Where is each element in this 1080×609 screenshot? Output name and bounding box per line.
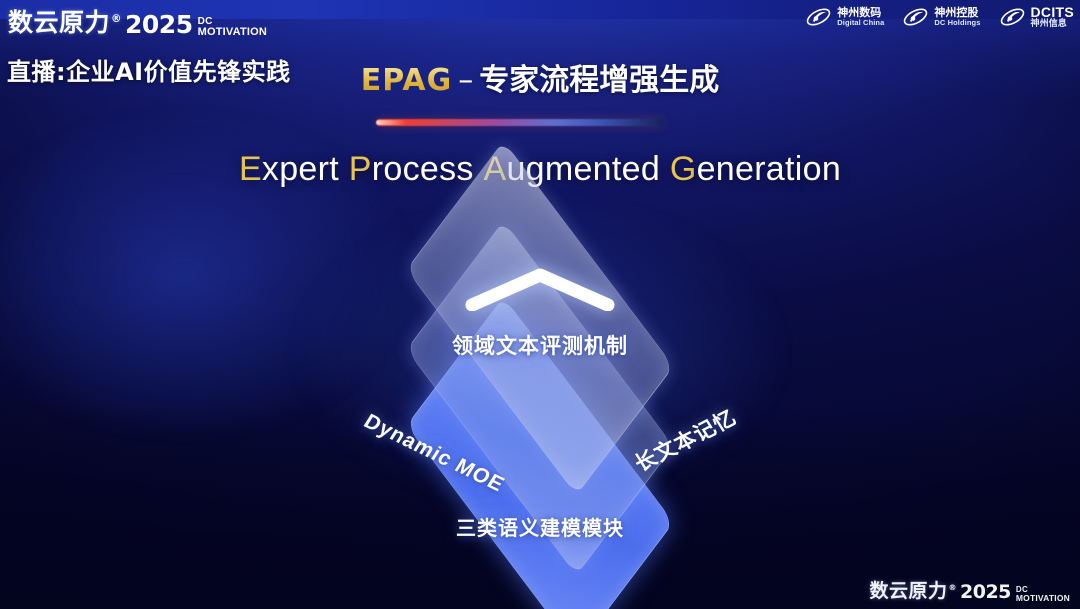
accent-gradient-bar <box>376 119 664 126</box>
slide-canvas: 数云原力® 2025 DC MOTIVATION 直播:企业AI价值先锋实践 神… <box>0 0 1080 609</box>
corp-logo-dcits: DCITS 神州信息 <box>999 5 1075 29</box>
corp-logo-line2: 神州信息 <box>1031 20 1075 29</box>
layer-bottom-label: 三类语义建模模块 <box>0 512 1080 541</box>
corporate-logo-group: 神州数码 Digital China 神州控股 DC Holdings <box>805 5 1074 29</box>
swoosh-icon <box>902 6 929 28</box>
corp-logo-text: 神州数码 Digital China <box>837 7 884 26</box>
corp-logo-line1: DCITS <box>1031 5 1075 20</box>
title-chinese: 专家流程增强生成 <box>479 63 719 98</box>
subtitle-word-generation: eneration <box>697 150 841 188</box>
chevron-up-icon <box>462 265 618 311</box>
swoosh-icon <box>805 6 832 28</box>
registered-mark: ® <box>111 13 122 25</box>
brand-dc-motivation: DC MOTIVATION <box>198 17 267 38</box>
corp-logo-line2: DC Holdings <box>934 19 980 27</box>
brand-dc-motivation: DC MOTIVATION <box>1016 586 1070 603</box>
brand-year: 2025 <box>125 10 193 39</box>
title-dash: – <box>458 63 473 98</box>
brand-logo-top-left: 数云原力® 2025 DC MOTIVATION <box>8 3 267 39</box>
subtitle-word-process: rocess <box>372 150 474 188</box>
brand-motivation-text: MOTIVATION <box>1016 594 1070 603</box>
subtitle-initial-p: P <box>349 150 372 188</box>
corp-logo-dc-holdings: 神州控股 DC Holdings <box>902 6 980 28</box>
subtitle-word-expert: xpert <box>262 150 339 188</box>
corp-logo-line2: Digital China <box>837 19 884 27</box>
subtitle-initial-g: G <box>670 150 697 188</box>
brand-logo-bottom-right: 数云原力® 2025 DC MOTIVATION <box>870 576 1070 603</box>
corp-logo-text: DCITS 神州信息 <box>1031 5 1075 29</box>
swoosh-icon <box>999 6 1026 28</box>
title-acronym: EPAG <box>361 63 453 98</box>
subtitle-expansion: Expert Process Augmented Generation <box>0 150 1080 189</box>
layered-architecture-diagram: 领域文本评测机制 Dynamic MOE 长文本记忆 三类语义建模模块 <box>0 222 1080 582</box>
corp-logo-text: 神州控股 DC Holdings <box>934 7 980 26</box>
registered-mark: ® <box>949 583 957 592</box>
page-title: EPAG–专家流程增强生成 <box>0 55 1080 99</box>
brand-motivation-text: MOTIVATION <box>198 27 267 38</box>
subtitle-initial-e: E <box>239 150 262 188</box>
layer-top-label: 领域文本评测机制 <box>0 330 1080 360</box>
brand-year: 2025 <box>960 581 1011 603</box>
brand-name-cn: 数云原力® <box>870 576 957 603</box>
brand-name-cn: 数云原力® <box>8 3 122 39</box>
corp-logo-digital-china: 神州数码 Digital China <box>805 6 884 28</box>
